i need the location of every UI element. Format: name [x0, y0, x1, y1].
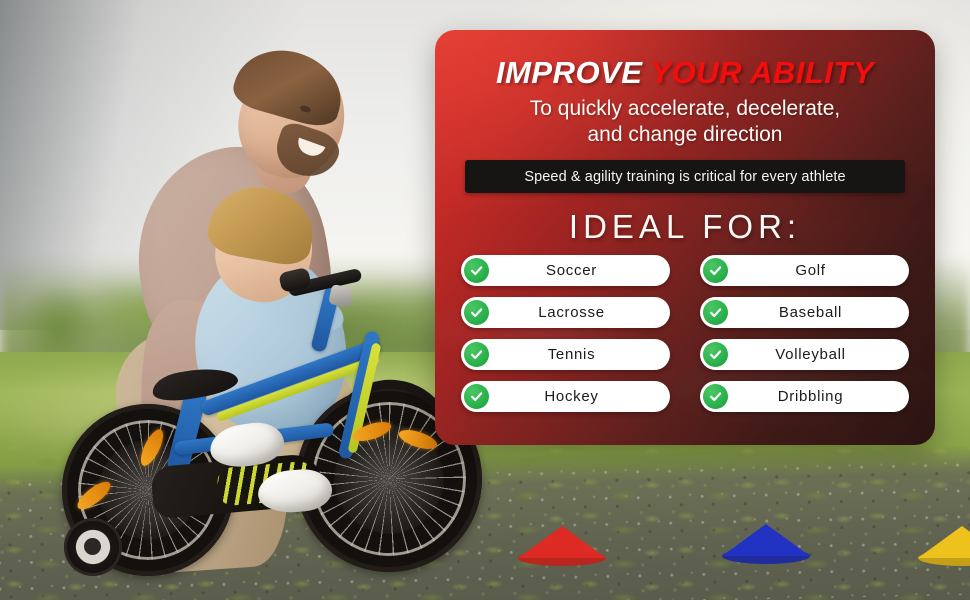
training-wheel-hub — [84, 538, 101, 555]
info-panel: IMPROVEYOUR ABILITY To quickly accelerat… — [435, 30, 935, 445]
sports-list: Soccer Golf Lacrosse Baseball — [461, 255, 909, 412]
product-marketing-banner: IMPROVEYOUR ABILITY To quickly accelerat… — [0, 0, 970, 600]
list-item: Baseball — [700, 297, 909, 328]
list-item: Hockey — [461, 381, 670, 412]
subheadline: To quickly accelerate, decelerate, and c… — [461, 96, 909, 147]
check-icon — [464, 258, 489, 283]
check-icon — [703, 258, 728, 283]
red-cone — [518, 526, 606, 558]
list-item: Soccer — [461, 255, 670, 286]
bicycle-bell — [328, 284, 354, 308]
list-item-label: Golf — [700, 262, 909, 279]
list-item-label: Hockey — [461, 388, 670, 405]
check-icon — [464, 384, 489, 409]
list-item: Dribbling — [700, 381, 909, 412]
ideal-for-heading: IDEAL FOR: — [435, 208, 935, 246]
check-icon — [703, 384, 728, 409]
list-item-label: Tennis — [461, 346, 670, 363]
check-icon — [464, 300, 489, 325]
list-item-label: Baseball — [700, 304, 909, 321]
list-item-label: Volleyball — [700, 346, 909, 363]
list-item-label: Soccer — [461, 262, 670, 279]
tagline-bar: Speed & agility training is critical for… — [465, 160, 905, 193]
list-item: Volleyball — [700, 339, 909, 370]
list-item-label: Lacrosse — [461, 304, 670, 321]
headline-white: IMPROVE — [496, 55, 642, 90]
headline: IMPROVEYOUR ABILITY — [435, 57, 935, 88]
check-icon — [703, 342, 728, 367]
check-icon — [464, 342, 489, 367]
headline-red: YOUR ABILITY — [650, 55, 874, 90]
list-item: Lacrosse — [461, 297, 670, 328]
check-icon — [703, 300, 728, 325]
yellow-cone — [918, 526, 970, 558]
list-item-label: Dribbling — [700, 388, 909, 405]
blue-cone — [722, 524, 810, 556]
list-item: Tennis — [461, 339, 670, 370]
list-item: Golf — [700, 255, 909, 286]
tagline-text: Speed & agility training is critical for… — [524, 169, 845, 185]
